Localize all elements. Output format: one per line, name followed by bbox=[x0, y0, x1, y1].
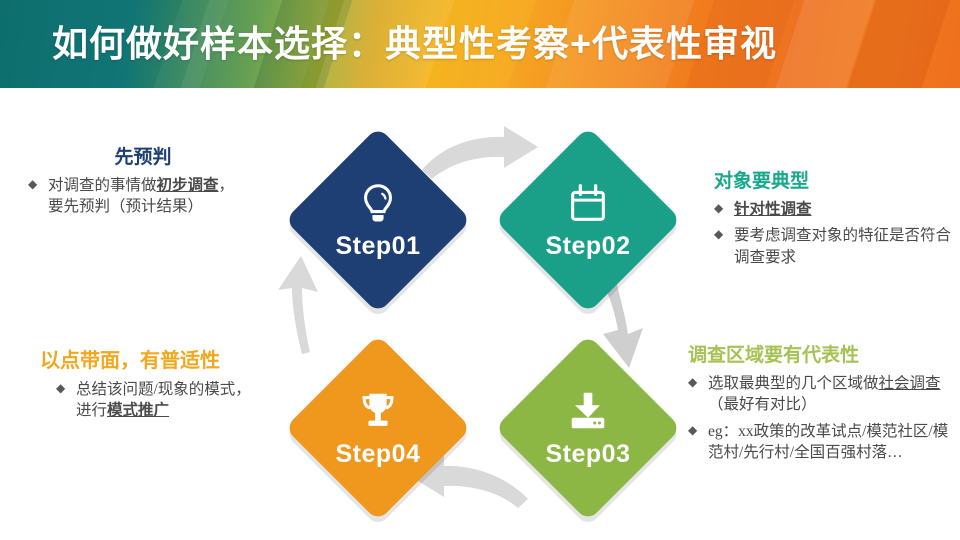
step-node-step02-content: Step02 bbox=[522, 154, 654, 286]
bullet-text-underline: 针对性调查 bbox=[734, 201, 812, 218]
bullet-diamond-icon: ◆ bbox=[28, 175, 37, 194]
list-item: ◆ 针对性调查 bbox=[714, 199, 954, 220]
calendar-icon bbox=[565, 180, 611, 226]
step-node-step01[interactable]: Step01 bbox=[285, 127, 472, 314]
list-item: ◆ 选取最典型的几个区域做社会调查（最好有对比） bbox=[688, 373, 956, 416]
bullet-text: eg：xx政策的改革试点/模范社区/模范村/先行村/全国百强村落… bbox=[708, 423, 948, 461]
header-banner: 如何做好样本选择：典型性考察+代表性审视 bbox=[0, 0, 960, 88]
list-item: ◆ eg：xx政策的改革试点/模范社区/模范村/先行村/全国百强村落… bbox=[688, 421, 956, 464]
step-node-step03-content: Step03 bbox=[522, 362, 654, 494]
bullet-text: 要考虑调查对象的特征是否符合调查要求 bbox=[734, 227, 951, 265]
lightbulb-icon bbox=[355, 180, 401, 226]
list-item: ◆ 对调查的事情做初步调查， 要先预判（预计结果） bbox=[28, 175, 298, 218]
step-node-step03-label: Step03 bbox=[546, 440, 631, 469]
text-block-representative-region-list: ◆ 选取最典型的几个区域做社会调查（最好有对比） ◆ eg：xx政策的改革试点/… bbox=[688, 373, 956, 464]
bullet-diamond-icon: ◆ bbox=[688, 373, 697, 392]
bullet-text-underline: 模式推广 bbox=[107, 402, 169, 419]
bullet-text-line2: 进行模式推广 bbox=[76, 400, 340, 421]
text-block-pre-judgment-list: ◆ 对调查的事情做初步调查， 要先预判（预计结果） bbox=[28, 175, 298, 218]
page-title: 如何做好样本选择：典型性考察+代表性审视 bbox=[52, 0, 777, 88]
bullet-text-line1: 总结该问题/现象的模式， bbox=[76, 381, 251, 398]
bullet-text-underline: 社会调查 bbox=[879, 375, 941, 392]
text-block-representative-region-title: 调查区域要有代表性 bbox=[688, 340, 956, 367]
step-node-step02-label: Step02 bbox=[546, 232, 631, 261]
text-block-representative-region: 调查区域要有代表性 ◆ 选取最典型的几个区域做社会调查（最好有对比） ◆ eg：… bbox=[688, 340, 956, 469]
bullet-text-tail: （最好有对比） bbox=[708, 396, 817, 413]
bullet-text-tail: ， bbox=[219, 177, 235, 194]
text-block-typical-object-title: 对象要典型 bbox=[714, 166, 954, 193]
bullet-text-line1: 选取最典型的几个区域做 bbox=[708, 375, 879, 392]
text-block-typical-object: 对象要典型 ◆ 针对性调查 ◆ 要考虑调查对象的特征是否符合调查要求 bbox=[714, 166, 954, 273]
text-block-scalability-title: 以点带面，有普适性 bbox=[40, 344, 340, 373]
step-node-step04-label: Step04 bbox=[336, 440, 421, 469]
list-item: ◆ 要考虑调查对象的特征是否符合调查要求 bbox=[714, 225, 954, 268]
bullet-text-line2: 要先预判（预计结果） bbox=[48, 196, 298, 217]
list-item: ◆ 总结该问题/现象的模式， 进行模式推广 bbox=[56, 379, 340, 422]
bullet-diamond-icon: ◆ bbox=[714, 199, 723, 218]
text-block-scalability-list: ◆ 总结该问题/现象的模式， 进行模式推广 bbox=[56, 379, 340, 422]
step-node-step01-label: Step01 bbox=[336, 232, 421, 261]
bullet-diamond-icon: ◆ bbox=[714, 225, 723, 244]
slide-canvas: 如何做好样本选择：典型性考察+代表性审视 Step01 bbox=[0, 0, 960, 540]
text-block-pre-judgment: 先预判 ◆ 对调查的事情做初步调查， 要先预判（预计结果） bbox=[18, 142, 298, 223]
bullet-text-underline: 初步调查 bbox=[157, 177, 219, 194]
text-block-pre-judgment-title: 先预判 bbox=[18, 142, 268, 169]
step-node-step02[interactable]: Step02 bbox=[495, 127, 682, 314]
download-inbox-icon bbox=[565, 388, 611, 434]
step-node-step01-content: Step01 bbox=[312, 154, 444, 286]
bullet-text-plain: 对调查的事情做 bbox=[48, 177, 157, 194]
text-block-scalability: 以点带面，有普适性 ◆ 总结该问题/现象的模式， 进行模式推广 bbox=[40, 344, 340, 427]
text-block-typical-object-list: ◆ 针对性调查 ◆ 要考虑调查对象的特征是否符合调查要求 bbox=[714, 199, 954, 268]
bullet-diamond-icon: ◆ bbox=[56, 379, 65, 398]
bullet-diamond-icon: ◆ bbox=[688, 421, 697, 440]
bullet-text-plain: 进行 bbox=[76, 402, 107, 419]
step-node-step03[interactable]: Step03 bbox=[495, 335, 682, 522]
trophy-icon bbox=[355, 388, 401, 434]
